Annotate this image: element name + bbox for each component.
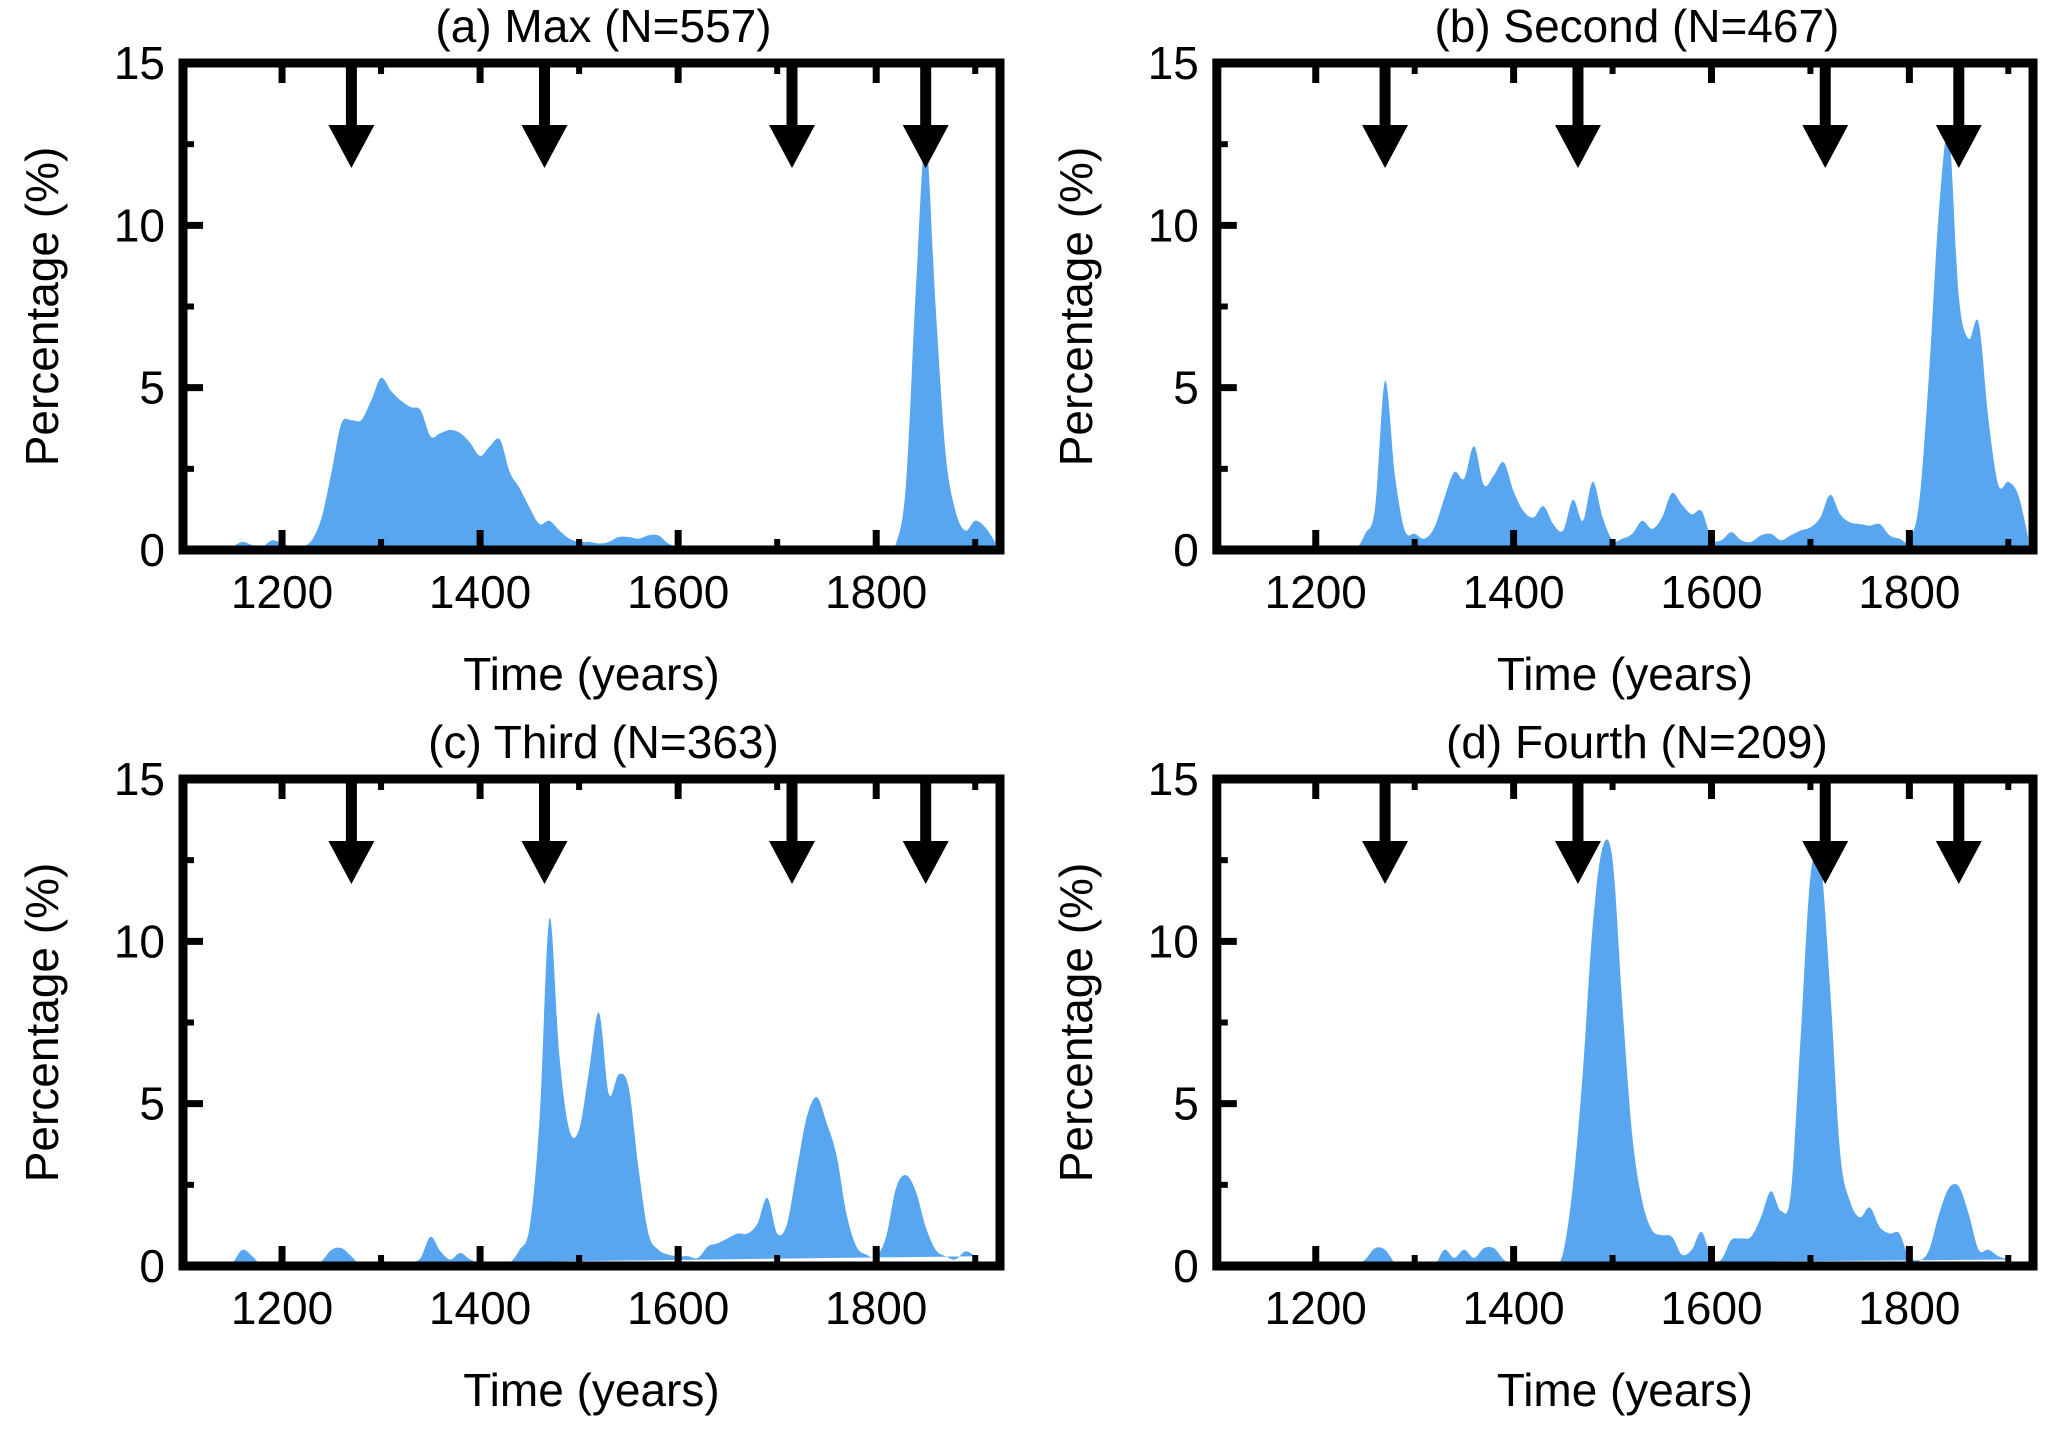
down-arrow-icon bbox=[1936, 783, 1982, 884]
down-arrow-icon bbox=[328, 783, 374, 884]
down-arrow-icon bbox=[1555, 67, 1601, 168]
down-arrow-icon bbox=[903, 67, 949, 168]
down-arrow-icon bbox=[1362, 67, 1408, 168]
plot-frame bbox=[1217, 63, 2033, 550]
y-tick-label: 10 bbox=[114, 915, 165, 967]
y-tick-label: 15 bbox=[114, 37, 165, 89]
x-tick-label: 1600 bbox=[627, 566, 729, 618]
y-tick-label: 5 bbox=[1173, 362, 1199, 414]
down-arrow-icon bbox=[328, 67, 374, 168]
x-tick-label: 1800 bbox=[1858, 566, 1960, 618]
x-tick-label: 1600 bbox=[1660, 566, 1762, 618]
down-arrow-icon bbox=[1362, 783, 1408, 884]
x-axis-label: Time (years) bbox=[1497, 648, 1753, 700]
down-arrow-icon bbox=[769, 67, 815, 168]
x-tick-label: 1200 bbox=[231, 1282, 333, 1334]
y-tick-label: 15 bbox=[1148, 37, 1199, 89]
down-arrow-icon bbox=[1802, 783, 1848, 884]
y-tick-label: 15 bbox=[1148, 753, 1199, 805]
x-tick-label: 1600 bbox=[1660, 1282, 1762, 1334]
y-tick-label: 10 bbox=[114, 199, 165, 251]
down-arrow-icon bbox=[1802, 67, 1848, 168]
y-tick-label: 0 bbox=[139, 524, 165, 576]
panel-a: (a) Max (N=557)1200140016001800051015Tim… bbox=[0, 0, 1034, 716]
x-tick-label: 1800 bbox=[825, 1282, 927, 1334]
panel-title: (c) Third (N=363) bbox=[428, 716, 779, 768]
x-tick-label: 1600 bbox=[627, 1282, 729, 1334]
x-tick-label: 1400 bbox=[1463, 1282, 1565, 1334]
x-axis-label: Time (years) bbox=[1497, 1364, 1753, 1416]
down-arrow-icon bbox=[769, 783, 815, 884]
y-tick-label: 10 bbox=[1148, 199, 1199, 251]
panel-b: (b) Second (N=467)1200140016001800051015… bbox=[1034, 0, 2067, 716]
y-tick-label: 5 bbox=[139, 362, 165, 414]
y-tick-label: 0 bbox=[1173, 524, 1199, 576]
down-arrow-icon bbox=[1555, 783, 1601, 884]
y-axis-label: Percentage (%) bbox=[16, 147, 68, 467]
y-tick-label: 15 bbox=[114, 753, 165, 805]
x-tick-label: 1400 bbox=[429, 566, 531, 618]
x-tick-label: 1800 bbox=[825, 566, 927, 618]
y-tick-label: 0 bbox=[139, 1240, 165, 1292]
x-tick-label: 1400 bbox=[429, 1282, 531, 1334]
x-tick-label: 1200 bbox=[1265, 566, 1367, 618]
y-tick-label: 5 bbox=[139, 1078, 165, 1130]
plot-frame bbox=[183, 63, 1000, 550]
area-series bbox=[183, 918, 975, 1267]
panel-title: (a) Max (N=557) bbox=[435, 0, 771, 52]
x-tick-label: 1200 bbox=[231, 566, 333, 618]
y-tick-label: 10 bbox=[1148, 915, 1199, 967]
x-tick-label: 1400 bbox=[1463, 566, 1565, 618]
x-axis-label: Time (years) bbox=[463, 1364, 719, 1416]
panel-title: (b) Second (N=467) bbox=[1435, 0, 1840, 52]
down-arrow-icon bbox=[1936, 67, 1982, 168]
area-series bbox=[1217, 132, 2028, 551]
panel-c: (c) Third (N=363)1200140016001800051015T… bbox=[0, 716, 1034, 1432]
x-axis-label: Time (years) bbox=[463, 648, 719, 700]
area-series bbox=[183, 141, 995, 551]
panel-title: (d) Fourth (N=209) bbox=[1446, 716, 1828, 768]
area-series bbox=[1217, 839, 2008, 1267]
x-tick-label: 1200 bbox=[1265, 1282, 1367, 1334]
down-arrow-icon bbox=[903, 783, 949, 884]
y-tick-label: 5 bbox=[1173, 1078, 1199, 1130]
figure-root: (a) Max (N=557)1200140016001800051015Tim… bbox=[0, 0, 2067, 1432]
panel-d: (d) Fourth (N=209)1200140016001800051015… bbox=[1034, 716, 2067, 1432]
y-axis-label: Percentage (%) bbox=[1050, 147, 1102, 467]
down-arrow-icon bbox=[522, 67, 568, 168]
y-axis-label: Percentage (%) bbox=[16, 863, 68, 1183]
y-axis-label: Percentage (%) bbox=[1050, 863, 1102, 1183]
y-tick-label: 0 bbox=[1173, 1240, 1199, 1292]
x-tick-label: 1800 bbox=[1858, 1282, 1960, 1334]
down-arrow-icon bbox=[522, 783, 568, 884]
